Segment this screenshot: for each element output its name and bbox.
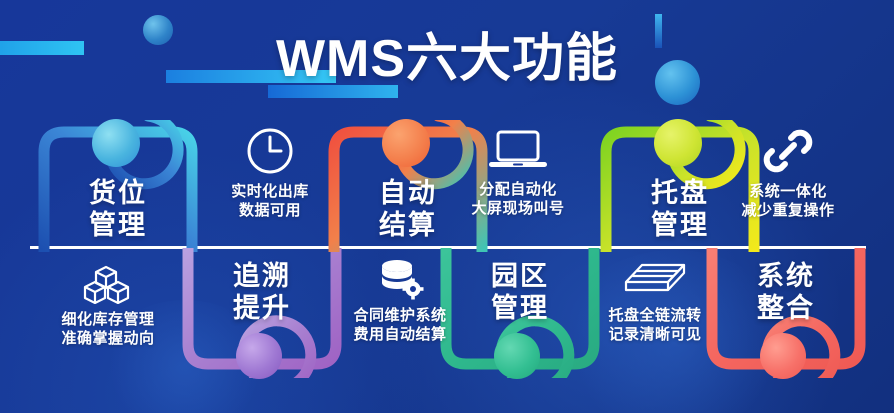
infographic-canvas: WMS六大功能 货位 管理 追溯 提升	[0, 0, 894, 413]
feature-line-1: 合同维护系统	[310, 306, 490, 325]
boxes-icon	[80, 258, 136, 304]
pallet-icon	[622, 260, 688, 300]
node-circle-tuopan-guanli	[654, 119, 702, 167]
feature-line-2: 减少重复操作	[698, 201, 878, 220]
feature-laptop: 分配自动化 大屏现场叫号	[428, 128, 608, 218]
feature-line-1: 托盘全链流转	[565, 306, 745, 325]
laptop-icon	[487, 128, 549, 174]
card-title-huowei-guanli: 货位 管理	[38, 178, 198, 242]
feature-database: 合同维护系统 费用自动结算	[310, 258, 490, 344]
page-title: WMS六大功能	[0, 16, 894, 91]
feature-line-1: 实时化出库	[180, 182, 360, 201]
feature-boxes: 细化库存管理 准确掌握动向	[18, 258, 198, 348]
feature-label: 细化库存管理 准确掌握动向	[18, 310, 198, 348]
feature-line-2: 准确掌握动向	[18, 329, 198, 348]
node-circle-zhuisu-tisheng	[236, 333, 282, 379]
feature-label: 实时化出库 数据可用	[180, 182, 360, 220]
feature-line-1: 分配自动化	[428, 180, 608, 199]
feature-line-2: 费用自动结算	[310, 325, 490, 344]
feature-line-2: 大屏现场叫号	[428, 199, 608, 218]
feature-line-1: 细化库存管理	[18, 310, 198, 329]
node-circle-zidong-jiesuan	[382, 119, 430, 167]
feature-label: 合同维护系统 费用自动结算	[310, 306, 490, 344]
feature-pallet: 托盘全链流转 记录清晰可见	[565, 260, 745, 344]
feature-line-2: 数据可用	[180, 201, 360, 220]
clock-icon	[245, 126, 295, 176]
node-circle-huowei-guanli	[92, 119, 140, 167]
feature-link: 系统一体化 减少重复操作	[698, 128, 878, 220]
database-gear-icon	[376, 258, 424, 300]
feature-line-2: 记录清晰可见	[565, 325, 745, 344]
node-circle-yuanqu-guanli	[494, 333, 540, 379]
feature-label: 托盘全链流转 记录清晰可见	[565, 306, 745, 344]
feature-label: 分配自动化 大屏现场叫号	[428, 180, 608, 218]
feature-label: 系统一体化 减少重复操作	[698, 182, 878, 220]
card-line-1: 货位	[38, 178, 198, 210]
feature-clock: 实时化出库 数据可用	[180, 126, 360, 220]
link-chain-icon	[763, 128, 813, 176]
card-line-2: 管理	[38, 210, 198, 242]
feature-line-1: 系统一体化	[698, 182, 878, 201]
node-circle-xitong-zhenghe	[760, 333, 806, 379]
